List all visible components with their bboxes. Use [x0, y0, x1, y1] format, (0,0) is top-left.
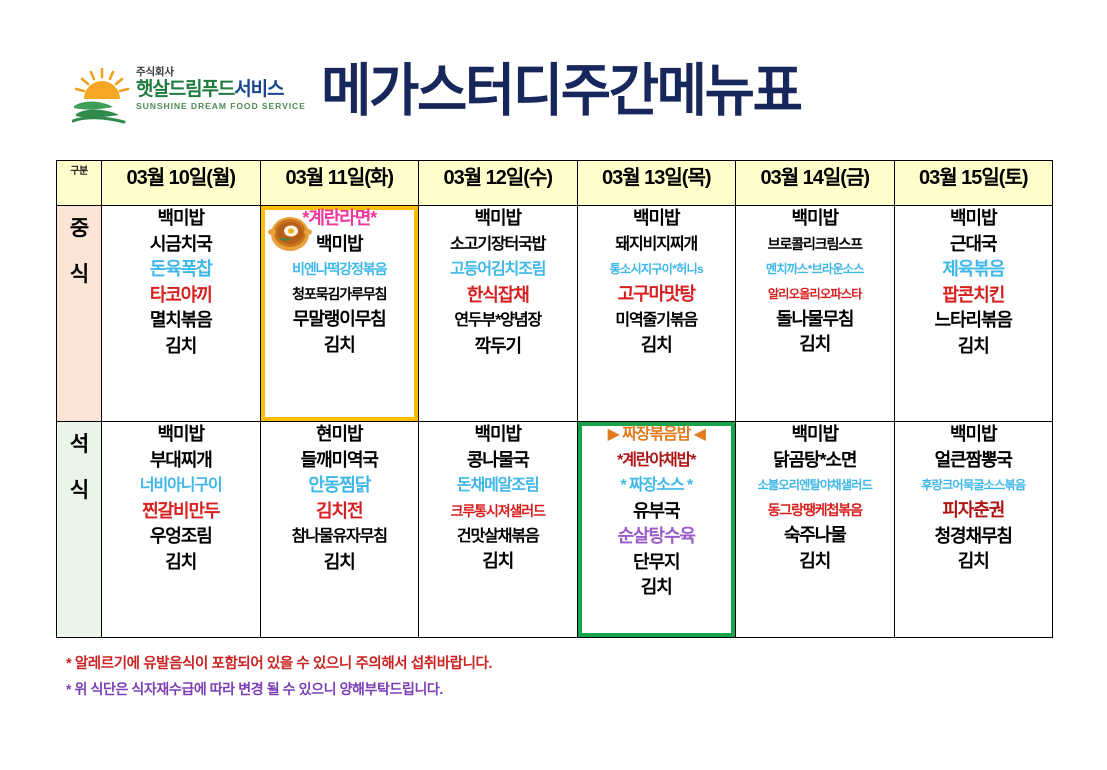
- dinner-row: 석 식 백미밥부대찌개너비아니구이찐갈비만두우엉조림김치 현미밥들깨미역국안동찜…: [57, 422, 1053, 638]
- dish-item: 백미밥: [895, 206, 1053, 232]
- lunch-row: 중 식 백미밥시금치국돈육폭찹타코야끼멸치볶음김치 *계란라면*백미밥비엔나떡강…: [57, 206, 1053, 422]
- dish-item: 백미밥: [895, 422, 1053, 448]
- page-title: 메가스터디주간메뉴표: [292, 52, 830, 130]
- dish-item: ▶ 짜장볶음밥 ◀: [578, 422, 736, 448]
- header-day-saturday: 03월 15일(토): [894, 161, 1053, 206]
- meal-label-char1: 중: [57, 206, 101, 252]
- dish-item: 우엉조림: [102, 524, 260, 550]
- dish-item: 김치: [578, 333, 736, 359]
- dish-item: 고등어김치조림: [419, 257, 577, 283]
- dish-item: 후랑크어묵굴소스볶음: [895, 473, 1053, 498]
- dish-item: 브로콜리크림스프: [736, 232, 894, 257]
- dish-item: 김치: [261, 333, 419, 359]
- dish-item: 백미밥: [578, 206, 736, 232]
- dish-item: 멘치까스*브라운소스: [736, 257, 894, 282]
- day-date-label: 03월 13일(목): [602, 167, 711, 189]
- day-date-label: 03월 10일(월): [126, 167, 235, 189]
- menu-cell-dinner-thursday: ▶ 짜장볶음밥 ◀*계란야채밥** 짜장소스 *유부국순살탕수육단무지김치: [577, 422, 736, 638]
- dish-item: 돈채메알조림: [419, 473, 577, 499]
- dish-item: 근대국: [895, 232, 1053, 258]
- menu-cell-lunch-thursday: 백미밥돼지비지찌개통소시지구이*허니s고구마맛탕미역줄기볶음김치: [577, 206, 736, 422]
- dish-item: 청포묵김가루무침: [261, 282, 419, 307]
- dish-item: 김치: [895, 549, 1053, 575]
- menu-change-note: * 위 식단은 식자재수급에 따라 변경 될 수 있으니 양해부탁드립니다.: [66, 677, 766, 702]
- logo-name-part2: 서비스: [234, 79, 283, 100]
- logo-name: 햇살드림푸드서비스: [136, 79, 296, 100]
- dish-item: 돌나물무침: [736, 307, 894, 333]
- dish-item: 고구마맛탕: [578, 282, 736, 308]
- day-date-label: 03월 14일(금): [760, 167, 869, 189]
- dish-item: 순살탕수육: [578, 524, 736, 550]
- menu-cell-lunch-monday: 백미밥시금치국돈육폭찹타코야끼멸치볶음김치: [102, 206, 261, 422]
- menu-cell-dinner-wednesday: 백미밥콩나물국돈채메알조림크루통시져샐러드건맛살채볶음김치: [419, 422, 578, 638]
- dish-item: 참나물유자무침: [261, 524, 419, 550]
- menu-cell-dinner-saturday: 백미밥얼큰짬뽕국후랑크어묵굴소스볶음피자춘권청경채무침김치: [894, 422, 1053, 638]
- dish-item: 숙주나물: [736, 523, 894, 549]
- dish-item: 건맛살채볶음: [419, 524, 577, 550]
- dish-item: * 짜장소스 *: [578, 473, 736, 499]
- dish-item: 얼큰짬뽕국: [895, 448, 1053, 474]
- dish-item: 김치: [102, 550, 260, 576]
- dish-item: 찐갈비만두: [102, 499, 260, 525]
- header-day-thursday: 03월 13일(목): [577, 161, 736, 206]
- dish-item: 한식잡채: [419, 283, 577, 309]
- dish-item: 유부국: [578, 499, 736, 525]
- dish-item: 느타리볶음: [895, 308, 1053, 334]
- dish-item: 백미밥: [419, 422, 577, 448]
- dish-item: 단무지: [578, 550, 736, 576]
- table-header-row: 구분 03월 10일(월) 03월 11일(화) 03월 12일(수) 03월 …: [57, 161, 1053, 206]
- dish-item: 타코야끼: [102, 283, 260, 309]
- dish-item: 백미밥: [736, 422, 894, 448]
- dish-item: 무말랭이무침: [261, 307, 419, 333]
- dish-item: 시금치국: [102, 232, 260, 258]
- dish-item: 김치: [895, 334, 1053, 360]
- ramen-bowl-icon: [267, 210, 313, 254]
- logo-wordmark: 주식회사 햇살드림푸드서비스 SUNSHINE DREAM FOOD SERVI…: [136, 66, 296, 112]
- dish-item: 통소시지구이*허니s: [578, 257, 736, 282]
- dish-item: 들깨미역국: [261, 448, 419, 474]
- dish-item: 알리오올리오파스타: [736, 282, 894, 307]
- dish-item: 피자춘권: [895, 498, 1053, 524]
- header-corner-cell: 구분: [57, 161, 102, 206]
- header-day-wednesday: 03월 12일(수): [419, 161, 578, 206]
- dish-item: *계란야채밥*: [578, 448, 736, 474]
- dish-item: 김치: [736, 549, 894, 575]
- menu-cell-lunch-saturday: 백미밥근대국제육볶음팝콘치킨느타리볶음김치: [894, 206, 1053, 422]
- dish-item: 돈육폭찹: [102, 257, 260, 283]
- footer-notes: * 알레르기에 유발음식이 포함되어 있을 수 있으니 주의해서 섭취바랍니다.…: [66, 652, 766, 702]
- dish-item: 김치: [419, 549, 577, 575]
- dish-item: 연두부*양념장: [419, 308, 577, 334]
- menu-cell-lunch-friday: 백미밥브로콜리크림스프멘치까스*브라운소스알리오올리오파스타돌나물무침김치: [736, 206, 895, 422]
- menu-cell-dinner-friday: 백미밥닭곰탕*소면소불오리엔탈야채샐러드동그랑땡케첩볶음숙주나물김치: [736, 422, 895, 638]
- dish-item: 김치: [261, 550, 419, 576]
- weekly-menu-table: 구분 03월 10일(월) 03월 11일(화) 03월 12일(수) 03월 …: [56, 160, 1053, 638]
- dish-item: 돼지비지찌개: [578, 232, 736, 258]
- dish-item: 청경채무침: [895, 524, 1053, 550]
- dish-item: 백미밥: [102, 422, 260, 448]
- dish-item: 콩나물국: [419, 448, 577, 474]
- header-day-tuesday: 03월 11일(화): [260, 161, 419, 206]
- dish-item: 백미밥: [419, 206, 577, 232]
- sun-over-field-icon: [72, 68, 134, 126]
- dish-item: 멸치볶음: [102, 308, 260, 334]
- dish-item: 미역줄기볶음: [578, 308, 736, 334]
- corner-label: 구분: [70, 166, 87, 177]
- dish-item: 부대찌개: [102, 448, 260, 474]
- dish-item: 김치전: [261, 499, 419, 525]
- dish-item: 백미밥: [736, 206, 894, 232]
- page-header: 주식회사 햇살드림푸드서비스 SUNSHINE DREAM FOOD SERVI…: [0, 52, 1107, 144]
- dish-item: 팝콘치킨: [895, 283, 1053, 309]
- dish-item: 현미밥: [261, 422, 419, 448]
- dish-item: 비엔나떡강정볶음: [261, 257, 419, 282]
- dish-item: 백미밥: [102, 206, 260, 232]
- logo-corp-label: 주식회사: [136, 66, 296, 78]
- dish-item: 닭곰탕*소면: [736, 448, 894, 474]
- meal-label-char2: 식: [57, 468, 101, 514]
- logo-subtitle: SUNSHINE DREAM FOOD SERVICE: [136, 101, 296, 112]
- dish-item: 김치: [102, 334, 260, 360]
- dish-item: 크루통시져샐러드: [419, 499, 577, 524]
- dish-item: 김치: [736, 332, 894, 358]
- menu-cell-dinner-monday: 백미밥부대찌개너비아니구이찐갈비만두우엉조림김치: [102, 422, 261, 638]
- header-day-monday: 03월 10일(월): [102, 161, 261, 206]
- allergy-note: * 알레르기에 유발음식이 포함되어 있을 수 있으니 주의해서 섭취바랍니다.: [66, 652, 766, 677]
- day-date-label: 03월 15일(토): [919, 167, 1028, 189]
- menu-cell-lunch-wednesday: 백미밥소고기장터국밥고등어김치조림한식잡채연두부*양념장깍두기: [419, 206, 578, 422]
- meal-label-char1: 석: [57, 422, 101, 468]
- dish-item: 동그랑땡케첩볶음: [736, 498, 894, 523]
- dish-item: 깍두기: [419, 334, 577, 360]
- meal-label-dinner: 석 식: [57, 422, 102, 638]
- dish-item: 소고기장터국밥: [419, 232, 577, 258]
- company-logo: 주식회사 햇살드림푸드서비스 SUNSHINE DREAM FOOD SERVI…: [72, 60, 292, 136]
- day-date-label: 03월 12일(수): [443, 167, 552, 189]
- meal-label-lunch: 중 식: [57, 206, 102, 422]
- menu-cell-lunch-tuesday: *계란라면*백미밥비엔나떡강정볶음청포묵김가루무침무말랭이무침김치: [260, 206, 419, 422]
- dish-item: 김치: [578, 575, 736, 601]
- day-date-label: 03월 11일(화): [286, 167, 393, 189]
- logo-name-part1: 햇살드림푸드: [136, 79, 234, 100]
- meal-label-char2: 식: [57, 252, 101, 298]
- header-day-friday: 03월 14일(금): [736, 161, 895, 206]
- dish-item: 소불오리엔탈야채샐러드: [736, 473, 894, 498]
- dish-item: 안동찜닭: [261, 473, 419, 499]
- dish-item: 너비아니구이: [102, 473, 260, 499]
- menu-cell-dinner-tuesday: 현미밥들깨미역국안동찜닭김치전참나물유자무침김치: [260, 422, 419, 638]
- dish-item: 제육볶음: [895, 257, 1053, 283]
